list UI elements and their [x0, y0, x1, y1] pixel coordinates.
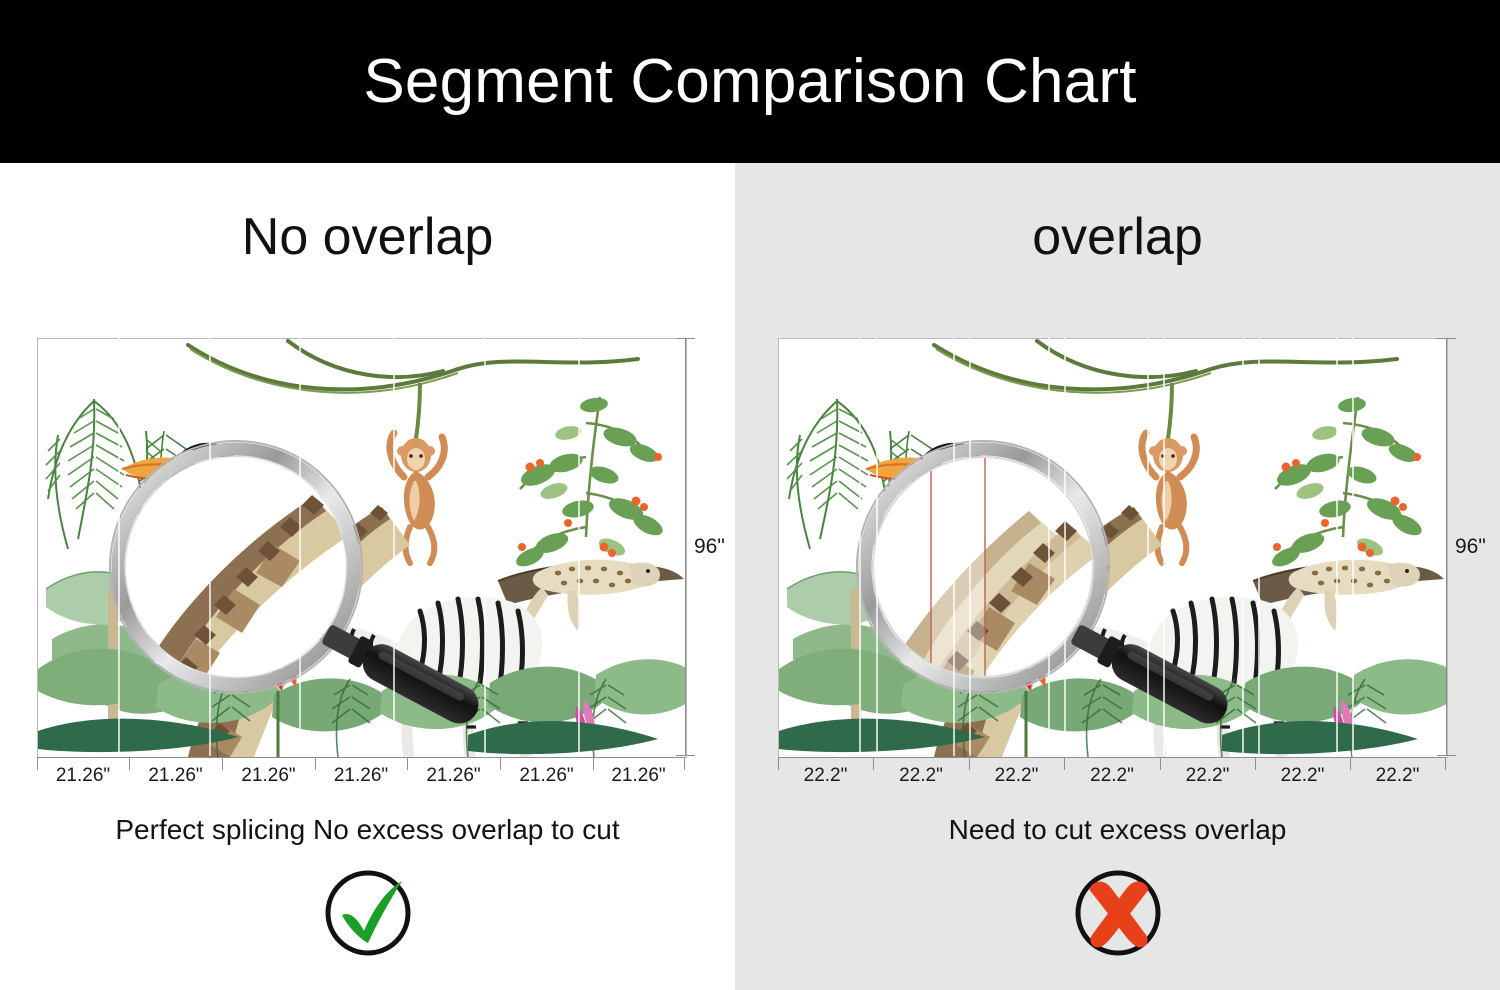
- height-label-overlap: 96": [1455, 535, 1486, 559]
- verdict-overlap: [735, 863, 1500, 963]
- panel-heading-overlap: overlap: [735, 211, 1500, 263]
- segment-label: 22.2": [1064, 765, 1160, 787]
- verdict-no-overlap: [0, 863, 775, 963]
- mural-image-no-overlap: [37, 338, 687, 758]
- ruler-tick: [1445, 757, 1446, 770]
- caption-overlap: Need to cut excess overlap: [735, 816, 1500, 844]
- segment-ruler-overlap: 22.2" 22.2" 22.2" 22.2" 22.2" 22.2" 22.2…: [778, 757, 1446, 781]
- height-label-no-overlap: 96": [694, 535, 725, 559]
- green-check-icon: [318, 863, 418, 963]
- page-header: Segment Comparison Chart: [0, 0, 1500, 163]
- segment-label: 22.2": [969, 765, 1064, 787]
- segment-label: 22.2": [1350, 765, 1445, 787]
- segment-label: 22.2": [778, 765, 873, 787]
- red-cross-icon: [1068, 863, 1168, 963]
- segment-label: 21.26": [315, 765, 407, 787]
- ruler-tick-top: [676, 338, 695, 339]
- caption-no-overlap: Perfect splicing No excess overlap to cu…: [0, 816, 775, 844]
- segment-label: 22.2": [873, 765, 969, 787]
- ruler-axis: [37, 757, 685, 758]
- panel-overlap: overlap: [735, 163, 1500, 990]
- panel-no-overlap: No overlap: [0, 163, 735, 990]
- segment-label: 21.26": [222, 765, 315, 787]
- segment-label: 21.26": [407, 765, 500, 787]
- segment-comparison-page: Segment Comparison Chart No overlap: [0, 0, 1500, 990]
- segment-ruler-no-overlap: 21.26" 21.26" 21.26" 21.26" 21.26" 21.26…: [37, 757, 685, 781]
- ruler-tick: [684, 757, 685, 770]
- comparison-panels: No overlap: [0, 163, 1500, 990]
- mural-frame-no-overlap: [37, 338, 685, 756]
- ruler-tick-bottom: [676, 755, 695, 756]
- ruler-axis: [778, 757, 1446, 758]
- ruler-tick-bottom: [1437, 755, 1456, 756]
- segment-label: 21.26": [37, 765, 129, 787]
- segment-label: 22.2": [1255, 765, 1350, 787]
- segment-label: 22.2": [1160, 765, 1255, 787]
- panel-heading-no-overlap: No overlap: [0, 211, 775, 263]
- page-title: Segment Comparison Chart: [363, 51, 1136, 113]
- mural-image-overlap: [778, 338, 1448, 758]
- segment-label: 21.26": [593, 765, 684, 787]
- ruler-tick-top: [1437, 338, 1456, 339]
- ruler-axis: [1446, 338, 1447, 756]
- mural-frame-overlap: [778, 338, 1446, 756]
- segment-label: 21.26": [500, 765, 593, 787]
- segment-label: 21.26": [129, 765, 222, 787]
- ruler-axis: [685, 338, 686, 756]
